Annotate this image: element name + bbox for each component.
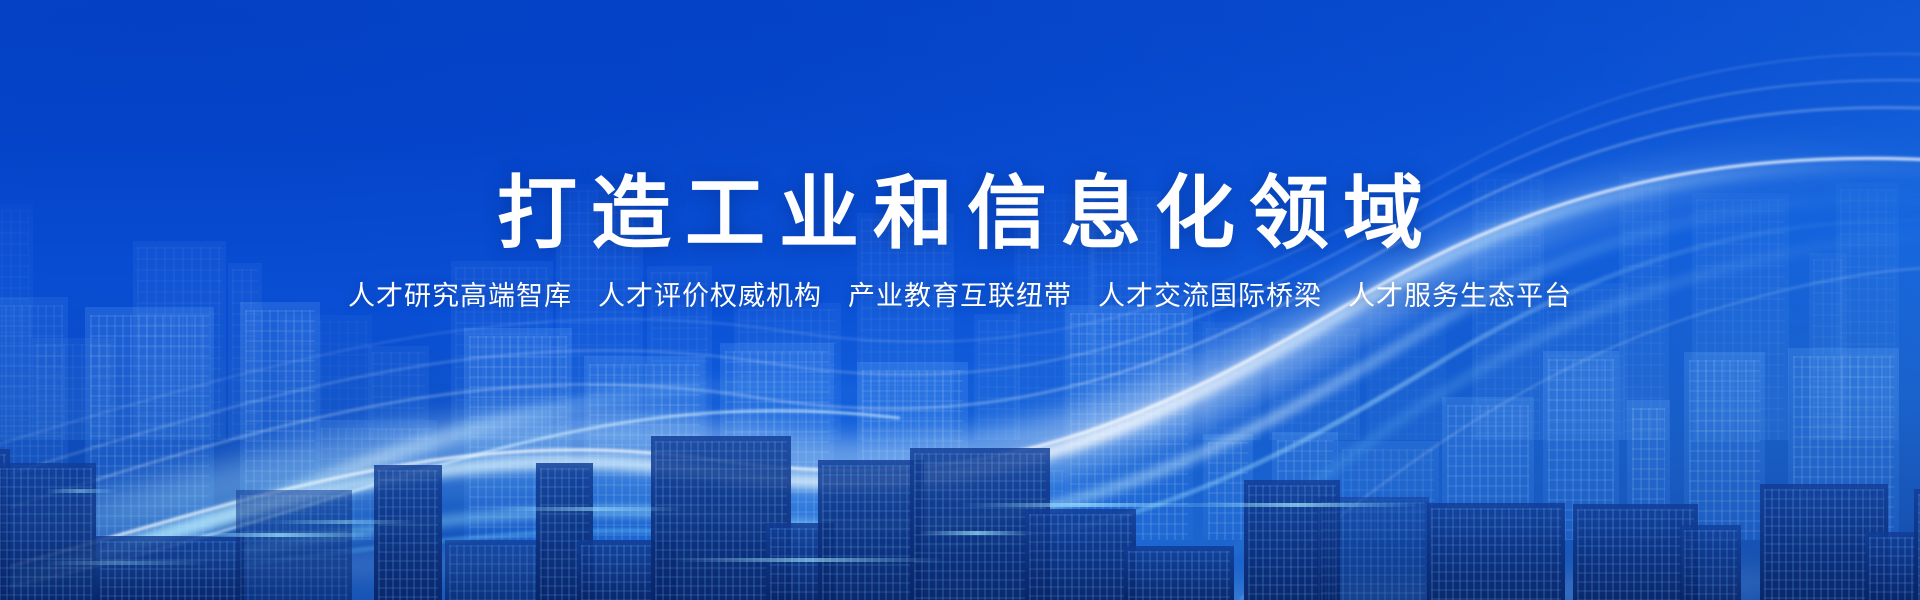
subtitle-item: 产业教育互联纽带 [848,281,1072,311]
subtitle-item: 人才评价权威机构 [598,281,822,311]
subtitle-item: 人才研究高端智库 [348,281,572,311]
subtitle-item: 人才交流国际桥梁 [1098,281,1322,311]
subtitle-item: 人才服务生态平台 [1348,281,1572,311]
banner-subtitle: 人才研究高端智库人才评价权威机构产业教育互联纽带人才交流国际桥梁人才服务生态平台 [348,253,1572,310]
banner-copy: 打造工业和信息化领域 人才研究高端智库人才评价权威机构产业教育互联纽带人才交流国… [0,0,1920,600]
banner-headline: 打造工业和信息化领域 [483,173,1437,253]
hero-banner: 打造工业和信息化领域 人才研究高端智库人才评价权威机构产业教育互联纽带人才交流国… [0,0,1920,600]
